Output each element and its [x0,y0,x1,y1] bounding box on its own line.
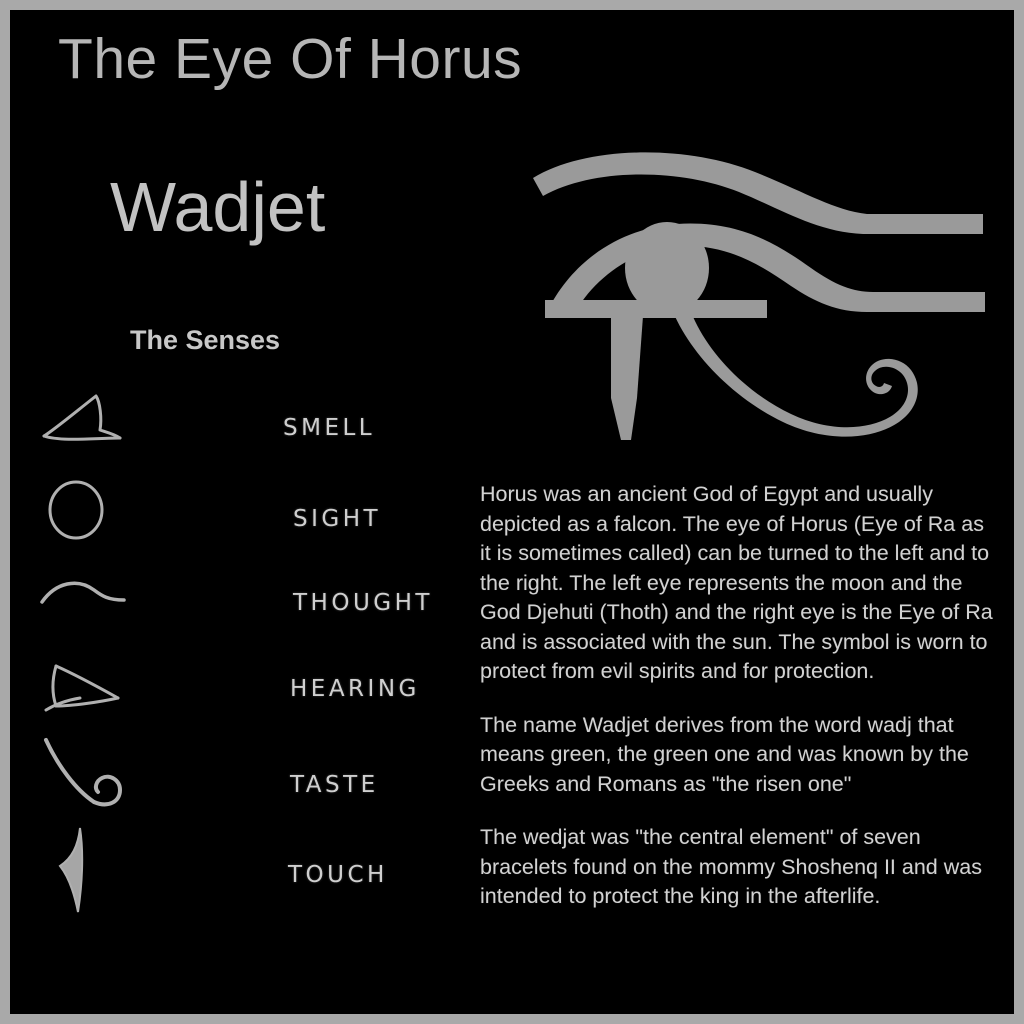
description-text-block: Horus was an ancient God of Egypt and us… [480,480,1000,912]
senses-list: SMELL SIGHT THOUGHT [10,380,470,908]
wavy-brow-glyph [38,556,158,642]
sense-label-thought: THOUGHT [293,590,433,616]
paragraph-wedjat-bracelets: The wedjat was "the central element" of … [480,823,1000,912]
sense-row-sight: SIGHT [10,468,470,556]
sense-row-taste: TASTE [10,732,470,820]
sense-row-smell: SMELL [10,380,470,468]
sense-row-touch: TOUCH [10,820,470,908]
poster-stage: The Eye Of Horus Wadjet The Senses [10,10,1014,1014]
sense-row-hearing: HEARING [10,644,470,732]
paragraph-horus: Horus was an ancient God of Egypt and us… [480,480,1000,687]
sense-row-thought: THOUGHT [10,556,470,644]
eye-of-horus-symbol [515,140,995,470]
eyebrow-fin-glyph [38,380,158,466]
curved-spiral-glyph [38,732,158,818]
vertical-teardrop-glyph [38,820,158,906]
sense-label-touch: TOUCH [288,862,388,888]
sense-label-taste: TASTE [290,772,379,798]
circle-pupil-glyph [38,468,158,554]
ear-fin-glyph [38,644,158,730]
senses-section-heading: The Senses [130,325,280,356]
page-title: The Eye Of Horus [58,30,522,90]
paragraph-wadjet-name: The name Wadjet derives from the word wa… [480,711,1000,800]
page-frame: The Eye Of Horus Wadjet The Senses [0,0,1024,1024]
subtitle-wadjet: Wadjet [110,172,325,242]
sense-label-smell: SMELL [283,415,375,441]
sense-label-sight: SIGHT [293,506,381,532]
sense-label-hearing: HEARING [290,676,420,702]
